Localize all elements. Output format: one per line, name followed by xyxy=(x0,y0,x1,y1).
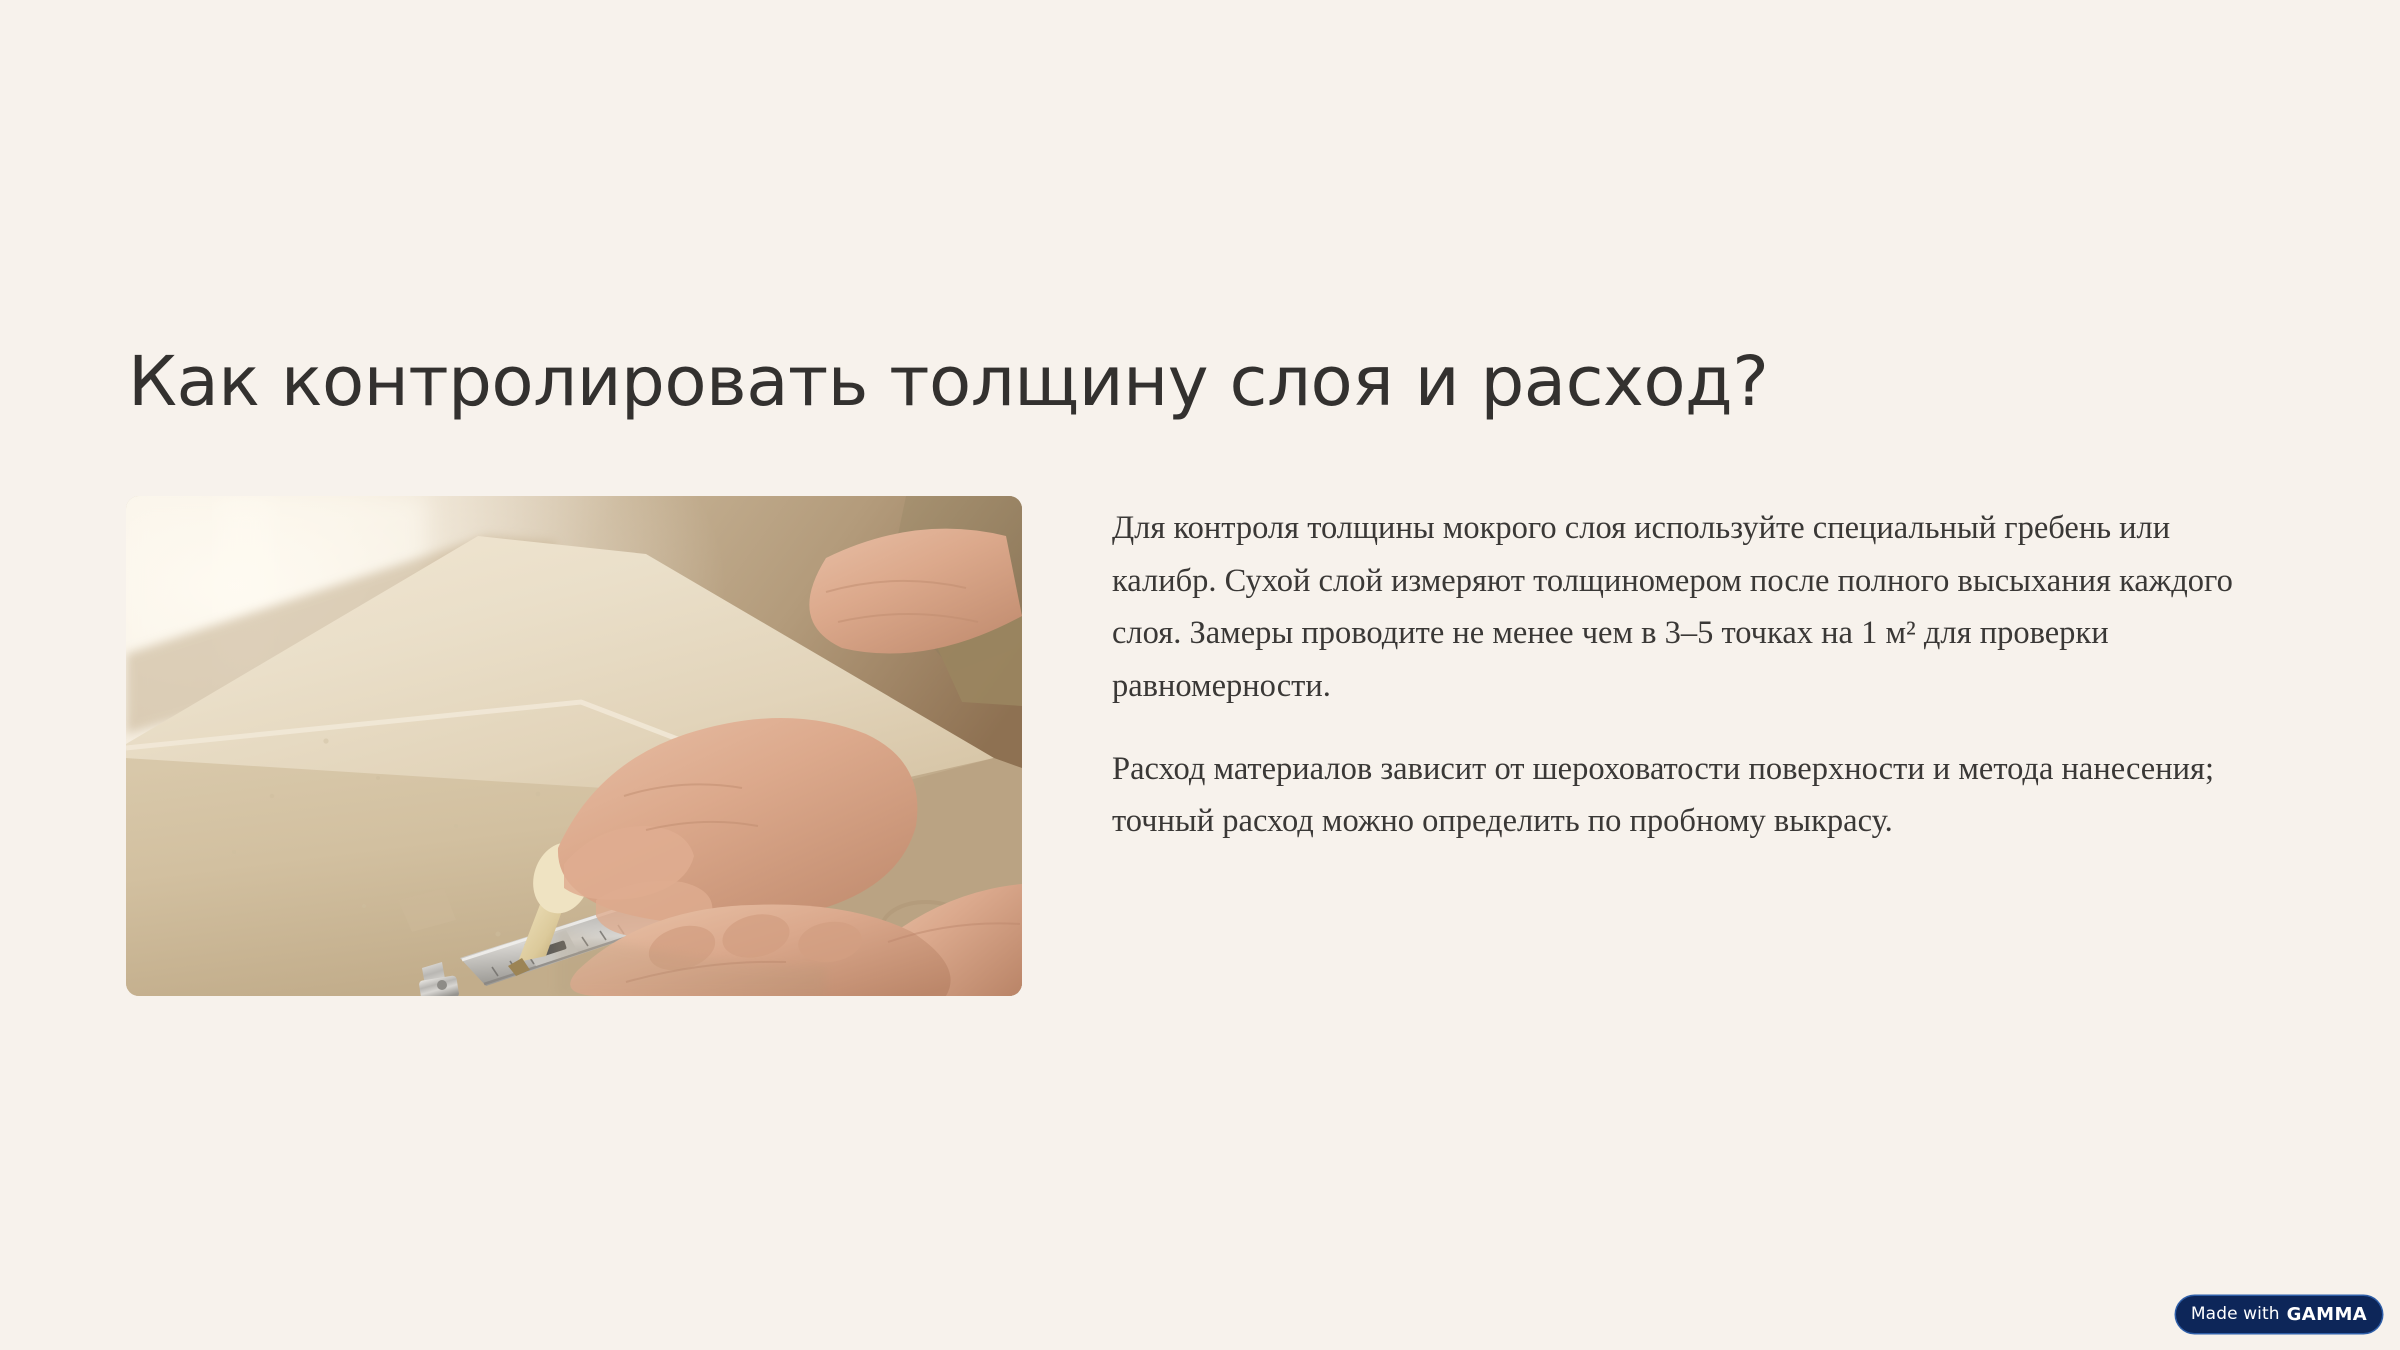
content-row: Для контроля толщины мокрого слоя исполь… xyxy=(126,496,2236,996)
layer-thickness-measurement-photo xyxy=(126,496,1022,996)
body-paragraph-2: Расход материалов зависит от шероховатос… xyxy=(1112,743,2236,848)
slide-canvas: Как контролировать толщину слоя и расход… xyxy=(0,0,2400,1350)
body-text-column: Для контроля толщины мокрого слоя исполь… xyxy=(1112,496,2236,848)
badge-prefix-label: Made with xyxy=(2191,1306,2280,1323)
made-with-gamma-badge[interactable]: Made with GAMMA xyxy=(2176,1296,2382,1333)
body-paragraph-1: Для контроля толщины мокрого слоя исполь… xyxy=(1112,502,2236,713)
gamma-wordmark: GAMMA xyxy=(2287,1306,2367,1324)
page-title: Как контролировать толщину слоя и расход… xyxy=(128,342,2228,422)
